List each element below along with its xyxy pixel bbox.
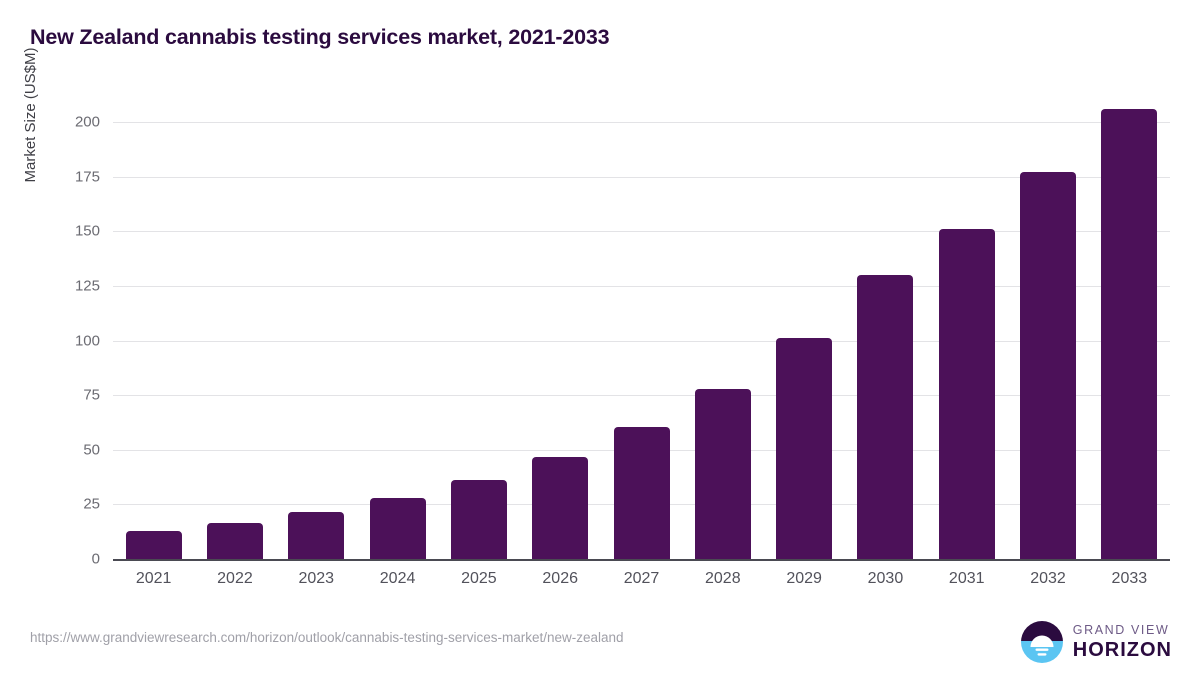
bar[interactable]	[126, 531, 182, 559]
x-axis-tick-label: 2030	[868, 570, 904, 588]
x-axis-tick-label: 2026	[542, 570, 578, 588]
x-axis-tick-label: 2025	[461, 570, 497, 588]
y-axis-tick-label: 50	[0, 441, 100, 458]
bar[interactable]	[695, 389, 751, 559]
bar[interactable]	[370, 498, 426, 559]
y-axis-tick-label: 200	[0, 114, 100, 131]
bar[interactable]	[614, 427, 670, 559]
grand-view-horizon-logo-icon	[1020, 620, 1064, 664]
x-axis-tick-label: 2024	[380, 570, 416, 588]
y-axis-tick-label: 100	[0, 332, 100, 349]
x-axis-tick-label: 2031	[949, 570, 985, 588]
bar[interactable]	[939, 229, 995, 559]
y-axis-tick-label: 150	[0, 223, 100, 240]
chart-plot-area: Market Size (US$M) 025507510012515017520…	[0, 0, 1200, 675]
x-axis-tick-label: 2023	[298, 570, 334, 588]
gridline	[113, 341, 1170, 342]
y-axis-tick-label: 75	[0, 387, 100, 404]
bar[interactable]	[451, 480, 507, 559]
x-axis-tick-label: 2028	[705, 570, 741, 588]
logo-line-1: GRAND VIEW	[1073, 624, 1172, 637]
bar[interactable]	[288, 512, 344, 559]
x-axis-tick-label: 2029	[786, 570, 822, 588]
y-axis-tick-label: 25	[0, 496, 100, 513]
bar[interactable]	[532, 457, 588, 559]
bar[interactable]	[1020, 172, 1076, 559]
y-axis-tick-label: 125	[0, 277, 100, 294]
chart-page: New Zealand cannabis testing services ma…	[0, 0, 1200, 675]
y-axis-tick-label: 0	[0, 551, 100, 568]
logo-line-2: HORIZON	[1073, 640, 1172, 660]
x-axis-tick-label: 2027	[624, 570, 660, 588]
logo-wordmark: GRAND VIEW HORIZON	[1073, 624, 1172, 660]
x-axis-tick-label: 2033	[1112, 570, 1148, 588]
gridline	[113, 122, 1170, 123]
gridline	[113, 395, 1170, 396]
x-axis-tick-label: 2032	[1030, 570, 1066, 588]
x-axis-tick-label: 2022	[217, 570, 253, 588]
bar[interactable]	[207, 523, 263, 559]
gridline	[113, 231, 1170, 232]
source-url-text: https://www.grandviewresearch.com/horizo…	[30, 630, 624, 645]
brand-logo: GRAND VIEW HORIZON	[1020, 620, 1172, 664]
x-axis-tick-label: 2021	[136, 570, 172, 588]
bar[interactable]	[776, 338, 832, 559]
gridline	[113, 177, 1170, 178]
x-axis-line	[113, 559, 1170, 561]
gridline	[113, 286, 1170, 287]
bar[interactable]	[857, 275, 913, 559]
bar[interactable]	[1101, 109, 1157, 559]
y-axis-tick-label: 175	[0, 168, 100, 185]
